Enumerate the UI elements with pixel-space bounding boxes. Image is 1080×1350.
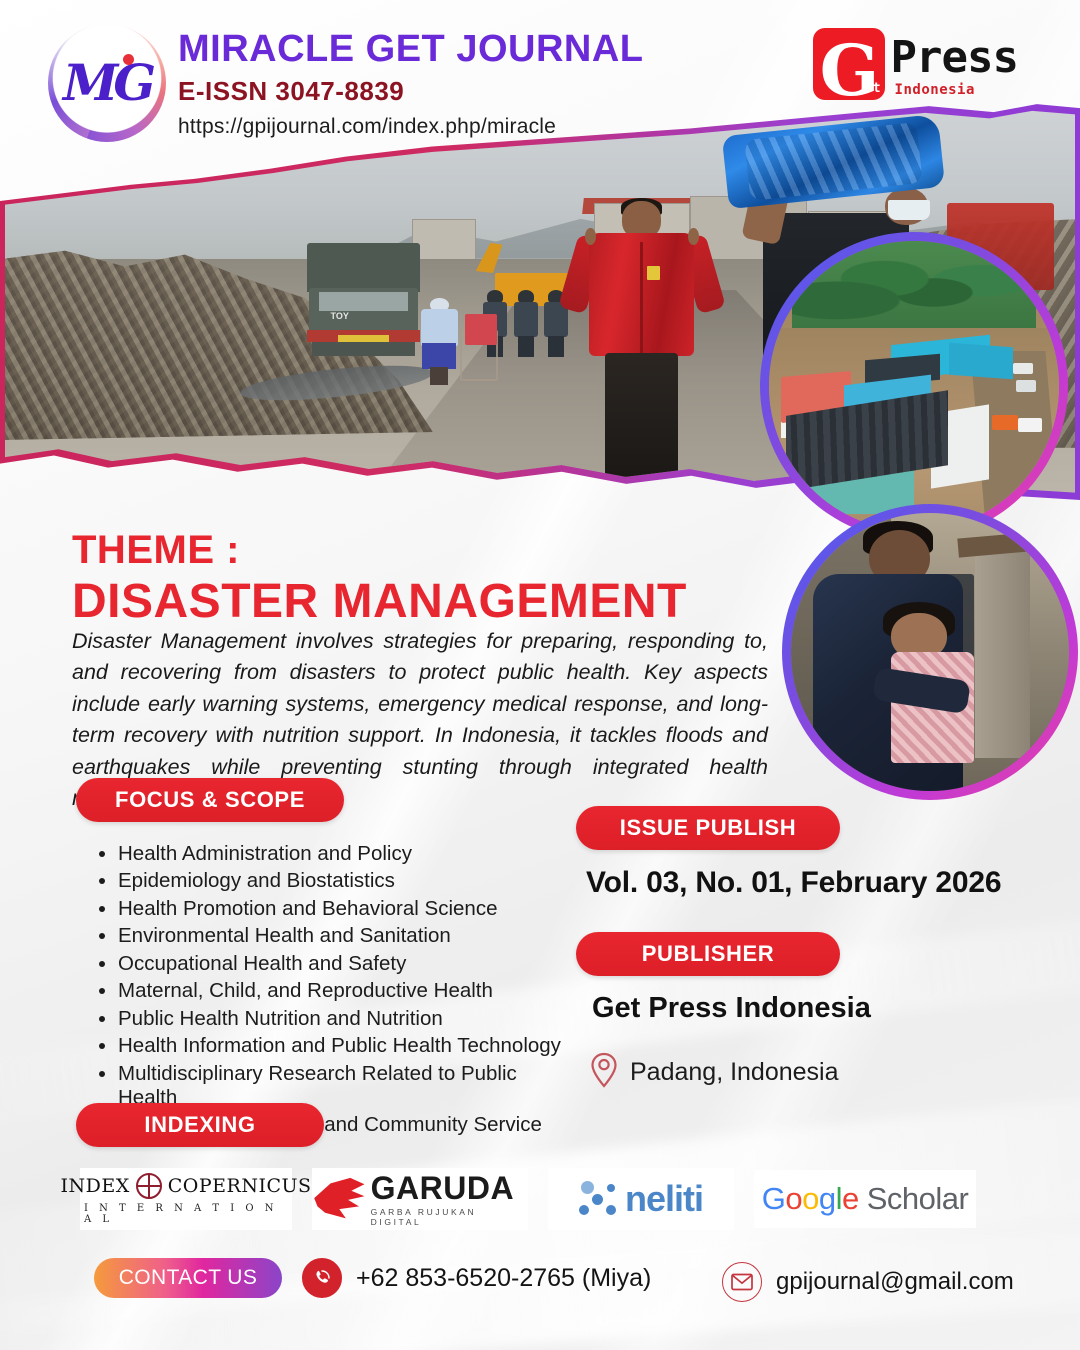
- index-copernicus-sub: I N T E R N A T I O N A L: [84, 1203, 288, 1225]
- contact-us-label: CONTACT US: [94, 1258, 282, 1298]
- publisher-location-row: Padang, Indonesia: [590, 1052, 839, 1093]
- publisher-logo-badge-icon: G et: [813, 28, 885, 100]
- list-item: Environmental Health and Sanitation: [94, 924, 564, 948]
- list-item: Epidemiology and Biostatistics: [94, 869, 564, 893]
- list-item: Public Health Nutrition and Nutrition: [94, 1007, 564, 1031]
- publisher-heading: PUBLISHER: [576, 932, 840, 976]
- journal-title-block: MIRACLE GET JOURNAL E-ISSN 3047-8839 htt…: [178, 30, 644, 139]
- publisher-logo-country: Indonesia: [895, 82, 1018, 98]
- poster-content: THEME : DISASTER MANAGEMENT Disaster Man…: [0, 0, 1080, 1350]
- issue-publish-heading: ISSUE PUBLISH: [576, 806, 840, 850]
- list-item: Health Administration and Policy: [94, 842, 564, 866]
- index-copernicus-word2: COPERNICUS: [168, 1175, 312, 1197]
- logo-garuda: GARUDA GARBA RUJUKAN DIGITAL: [312, 1168, 528, 1230]
- contact-email[interactable]: gpijournal@gmail.com: [722, 1262, 1014, 1302]
- publisher-logo-sub: et: [865, 81, 881, 96]
- journal-eissn: E-ISSN 3047-8839: [178, 76, 644, 107]
- logo-google-scholar: GoogleScholar: [754, 1170, 976, 1228]
- contact-phone[interactable]: +62 853-6520-2765 (Miya): [302, 1258, 651, 1298]
- publisher-location-text: Padang, Indonesia: [630, 1058, 839, 1087]
- list-item: Occupational Health and Safety: [94, 952, 564, 976]
- poster-canvas: MG MIRACLE GET JOURNAL E-ISSN 3047-8839 …: [0, 0, 1080, 1350]
- logo-index-copernicus: INDEX COPERNICUS I N T E R N A T I O N A…: [80, 1168, 292, 1230]
- journal-logo-icon: MG: [48, 24, 166, 142]
- google-scholar-word: GoogleScholar: [762, 1181, 969, 1217]
- journal-logo-dot-icon: [123, 54, 134, 65]
- list-item: Health Information and Public Health Tec…: [94, 1034, 564, 1058]
- index-copernicus-word1: INDEX: [60, 1175, 129, 1197]
- theme-label: THEME :: [72, 528, 240, 573]
- publisher-logo-word: Press: [891, 36, 1018, 80]
- garuda-bird-icon: [312, 1176, 367, 1222]
- publisher-name: Get Press Indonesia: [592, 992, 871, 1025]
- globe-icon: [136, 1173, 162, 1199]
- logo-neliti: neliti: [548, 1168, 734, 1230]
- garuda-subtitle: GARBA RUJUKAN DIGITAL: [371, 1207, 528, 1227]
- focus-scope-heading: FOCUS & SCOPE: [76, 778, 344, 822]
- envelope-icon: [722, 1262, 762, 1302]
- contact-phone-text: +62 853-6520-2765 (Miya): [356, 1264, 651, 1293]
- list-item: Health Promotion and Behavioral Science: [94, 897, 564, 921]
- journal-title: MIRACLE GET JOURNAL: [178, 30, 644, 70]
- contact-email-text: gpijournal@gmail.com: [776, 1268, 1014, 1296]
- publisher-logo: G et Press Indonesia: [813, 28, 1018, 100]
- poster-header: MG MIRACLE GET JOURNAL E-ISSN 3047-8839 …: [0, 0, 1080, 160]
- whatsapp-icon: [302, 1258, 342, 1298]
- indexing-logos: INDEX COPERNICUS I N T E R N A T I O N A…: [80, 1158, 1030, 1240]
- issue-publish-value: Vol. 03, No. 01, February 2026: [586, 866, 1001, 900]
- garuda-word: GARUDA: [371, 1172, 528, 1204]
- journal-url[interactable]: https://gpijournal.com/index.php/miracle: [178, 115, 644, 139]
- indexing-heading: INDEXING: [76, 1103, 324, 1147]
- focus-scope-list: Health Administration and Policy Epidemi…: [94, 842, 564, 1141]
- journal-logo-mark: MG: [63, 58, 151, 108]
- map-pin-icon: [590, 1052, 618, 1093]
- molecule-icon: [579, 1180, 619, 1218]
- neliti-word: neliti: [625, 1181, 703, 1217]
- list-item: Maternal, Child, and Reproductive Health: [94, 979, 564, 1003]
- theme-title: DISASTER MANAGEMENT: [72, 574, 687, 629]
